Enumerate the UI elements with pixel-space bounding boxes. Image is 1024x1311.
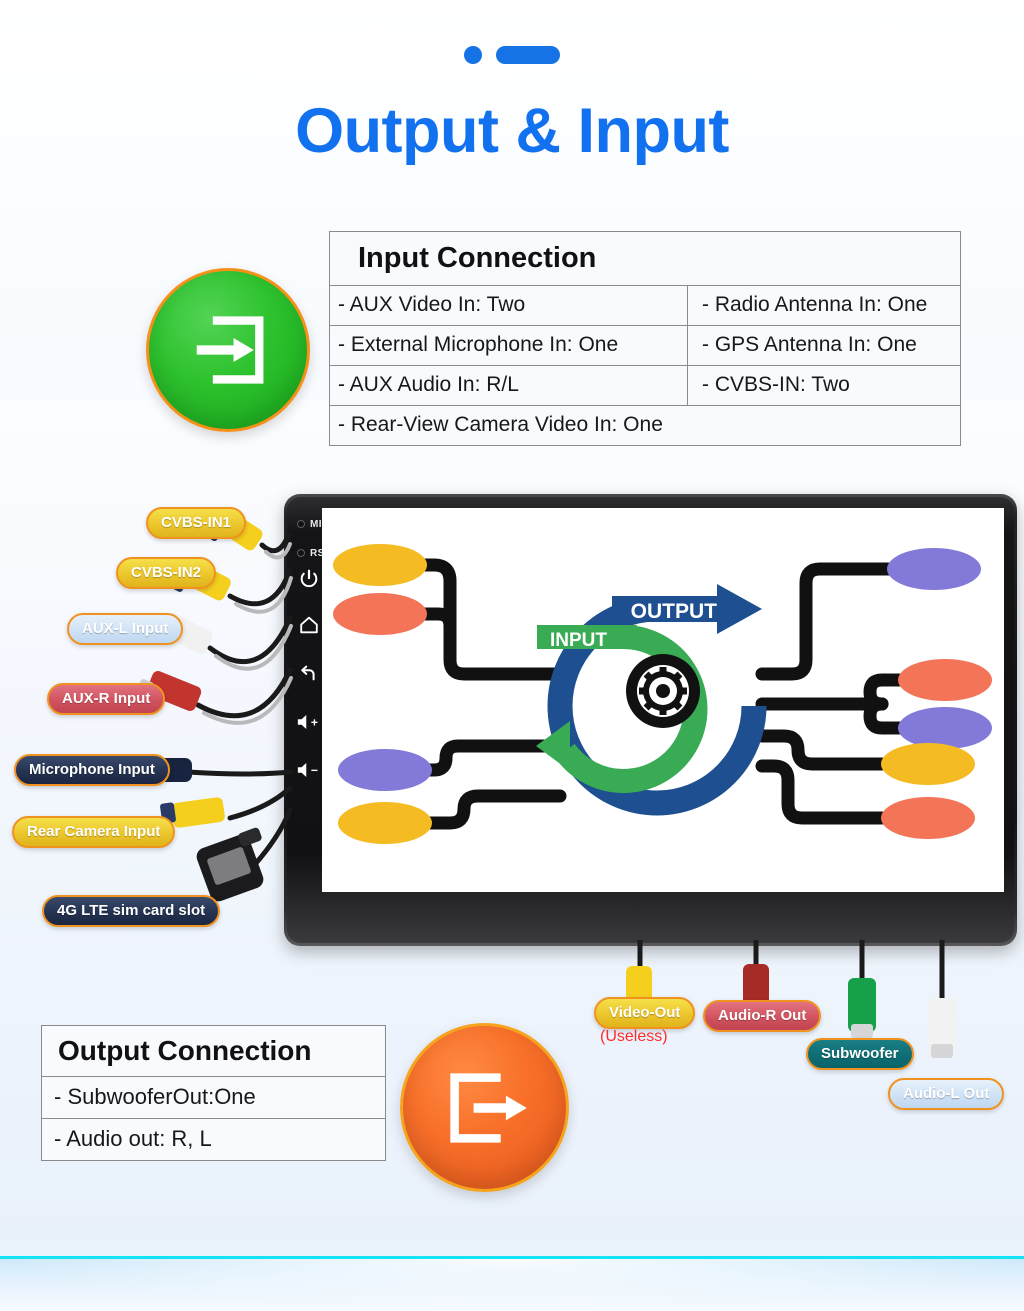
back-icon [298, 662, 320, 684]
decor-dot-icon [464, 46, 482, 64]
device-screen: OUTPUT INPUT [322, 508, 1004, 892]
input-label: INPUT [550, 630, 607, 651]
page-bottom-fade [0, 1259, 1024, 1311]
bezel-item-home[interactable] [298, 614, 320, 641]
port-label-sim-card-slot: 4G LTE sim card slot [42, 895, 220, 927]
port-label-cvbs-in1: CVBS-IN1 [146, 507, 246, 539]
decor-bar-icon [496, 46, 560, 64]
gear-icon [626, 654, 700, 728]
bezel-item-power[interactable] [298, 568, 320, 595]
input-cell: - GPS Antenna In: One [688, 326, 917, 365]
flow-node-left-1 [333, 544, 427, 586]
power-icon [298, 568, 320, 590]
input-cell: - AUX Audio In: R/L [330, 366, 688, 405]
plug-green-rca-out [848, 978, 876, 1038]
flow-node-right-1 [887, 548, 981, 590]
input-cell: - Rear-View Camera Video In: One [330, 406, 960, 445]
flow-diagram: OUTPUT INPUT [322, 508, 1004, 892]
logout-arrow-icon [437, 1060, 532, 1155]
port-label-aux-l-input: AUX-L Input [67, 613, 183, 645]
table-row: - Audio out: R, L [42, 1119, 385, 1160]
input-cell: - AUX Video In: Two [330, 286, 688, 325]
svg-text:+: + [311, 716, 318, 730]
flow-node-left-4 [338, 802, 432, 844]
infographic-page: Output & Input Input Connection - AUX Vi… [0, 0, 1024, 1311]
home-icon [298, 614, 320, 636]
input-connection-title: Input Connection [330, 232, 960, 286]
plug-sim-slot [194, 827, 266, 904]
table-row: - Rear-View Camera Video In: One [330, 406, 960, 445]
page-title: Output & Input [0, 95, 1024, 167]
output-cell: - Audio out: R, L [42, 1119, 385, 1160]
plug-white-rca-out [928, 998, 956, 1058]
port-label-rear-camera-input: Rear Camera Input [12, 816, 175, 848]
flow-node-right-4 [881, 743, 975, 785]
bezel-item-volume-down[interactable]: − [296, 760, 324, 785]
output-cell: - SubwooferOut:One [42, 1077, 385, 1118]
table-row: - External Microphone In: One - GPS Ante… [330, 326, 960, 366]
output-connection-box: Output Connection - SubwooferOut:One - A… [41, 1025, 386, 1161]
table-row: - AUX Video In: Two - Radio Antenna In: … [330, 286, 960, 326]
flow-node-right-5 [881, 797, 975, 839]
table-row: - AUX Audio In: R/L - CVBS-IN: Two [330, 366, 960, 406]
input-connection-box: Input Connection - AUX Video In: Two - R… [329, 231, 961, 446]
volume-up-icon: + [296, 712, 324, 732]
port-label-video-out: Video-Out [594, 997, 695, 1029]
flow-node-left-2 [333, 593, 427, 635]
output-connection-title: Output Connection [42, 1026, 385, 1077]
input-cell: - CVBS-IN: Two [688, 366, 850, 405]
output-label: OUTPUT [631, 600, 718, 623]
input-cell: - External Microphone In: One [330, 326, 688, 365]
flow-node-right-2 [898, 659, 992, 701]
input-badge-icon [146, 268, 310, 432]
port-label-audio-l-out: Audio-L Out [888, 1078, 1004, 1110]
bezel-item-volume-up[interactable]: + [296, 712, 324, 737]
port-label-aux-r-input: AUX-R Input [47, 683, 165, 715]
svg-text:−: − [311, 764, 318, 778]
output-badge-icon [400, 1023, 569, 1192]
bezel-item-back[interactable] [298, 662, 320, 689]
port-label-microphone-input: Microphone Input [14, 754, 170, 786]
input-cell: - Radio Antenna In: One [688, 286, 927, 325]
table-row: - SubwooferOut:One [42, 1077, 385, 1119]
volume-down-icon: − [296, 760, 324, 780]
port-label-subwoofer: Subwoofer [806, 1038, 914, 1070]
video-out-note: (Useless) [600, 1028, 668, 1046]
flow-node-right-3 [898, 707, 992, 749]
flow-node-left-3 [338, 749, 432, 791]
port-label-audio-r-out: Audio-R Out [703, 1000, 821, 1032]
title-decoration [0, 46, 1024, 64]
login-arrow-icon [182, 304, 274, 396]
port-label-cvbs-in2: CVBS-IN2 [116, 557, 216, 589]
